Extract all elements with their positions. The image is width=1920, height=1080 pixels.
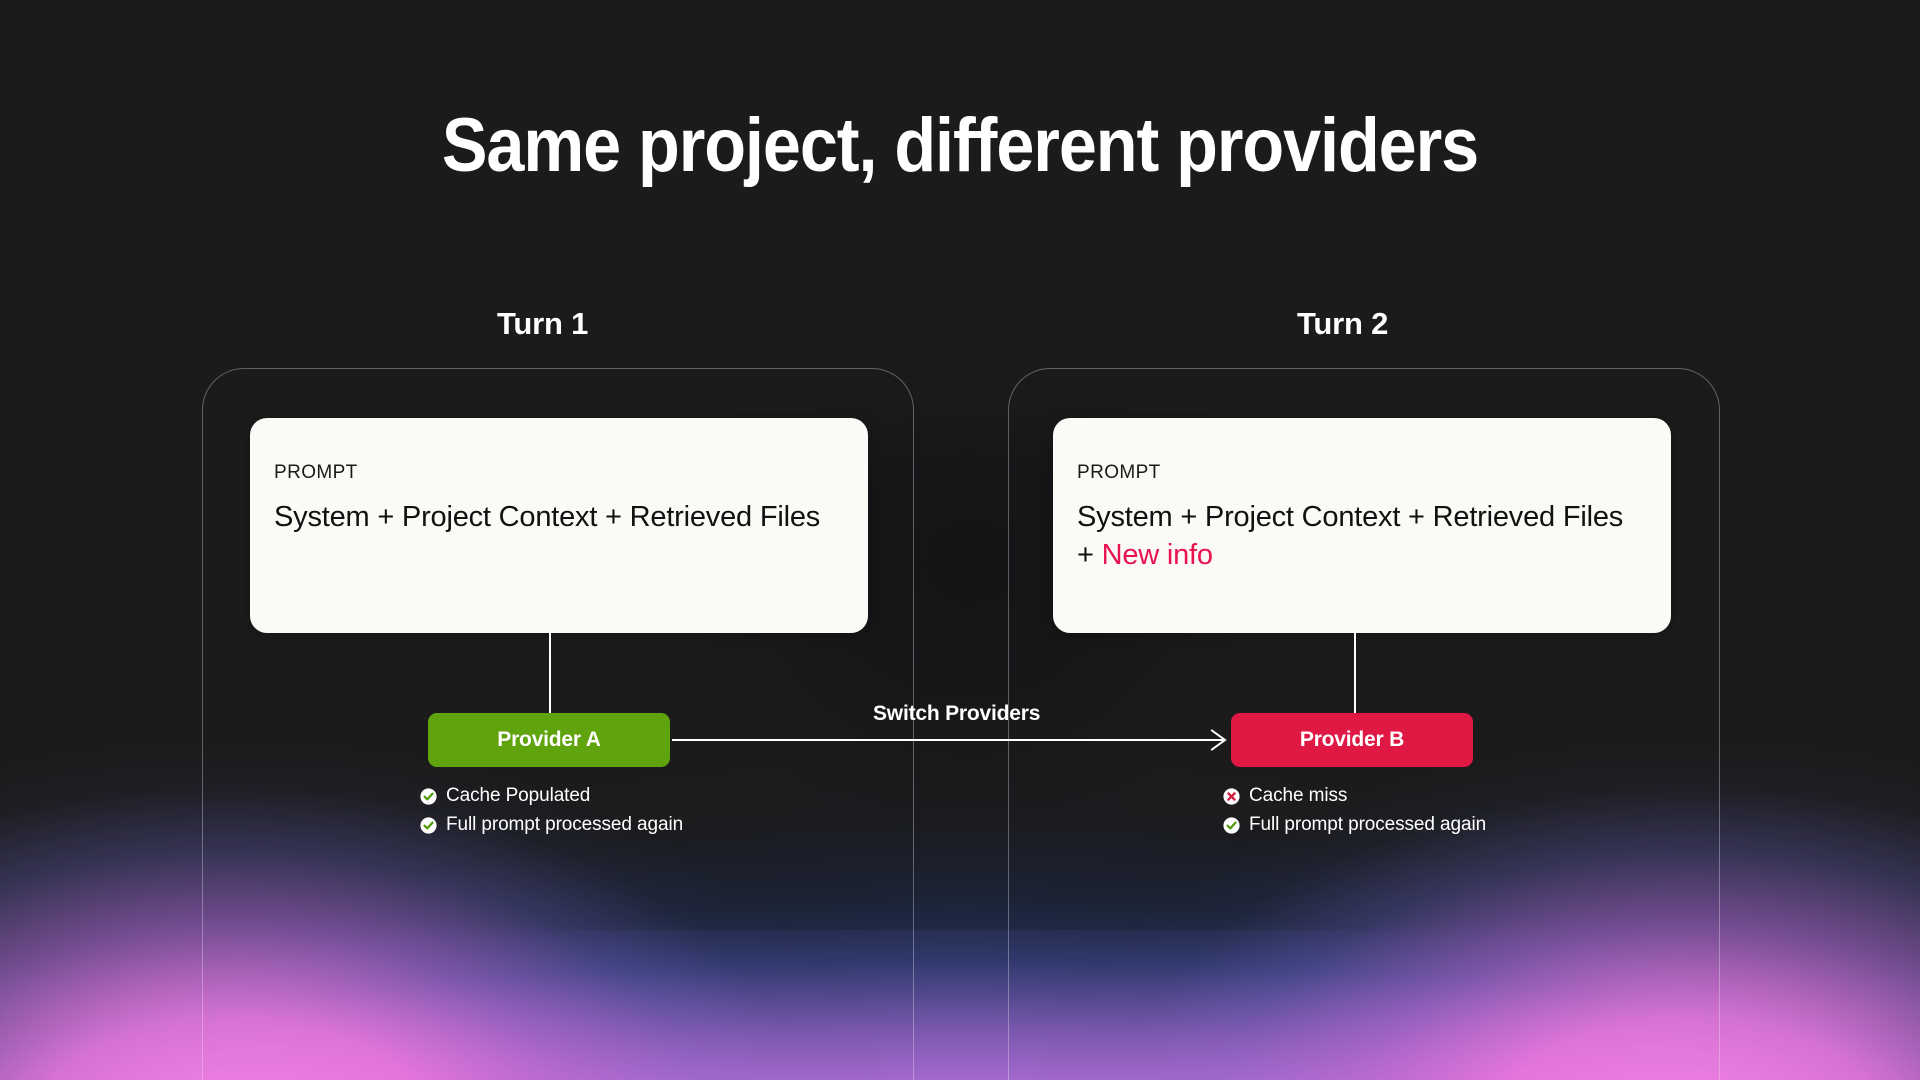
cross-circle-icon (1223, 788, 1240, 805)
prompt-kicker-1: PROMPT (274, 462, 844, 484)
list-item: Cache miss (1223, 785, 1486, 807)
turn-label-2: Turn 2 (1297, 306, 1388, 342)
list-item-label: Full prompt processed again (1249, 814, 1486, 836)
prompt-text-highlight-2: New info (1102, 539, 1213, 571)
list-item: Full prompt processed again (420, 814, 683, 836)
prompt-body-1: System + Project Context + Retrieved Fil… (274, 498, 844, 536)
prompt-text-plain-1: System + Project Context + Retrieved Fil… (274, 501, 820, 533)
switch-providers-arrow (672, 720, 1230, 760)
check-circle-icon (1223, 817, 1240, 834)
page-title: Same project, different providers (96, 108, 1824, 184)
prompt-card-1: PROMPT System + Project Context + Retrie… (250, 418, 868, 633)
outcome-list-2: Cache miss Full prompt processed again (1223, 785, 1486, 836)
provider-b-label: Provider B (1300, 728, 1404, 752)
list-item-label: Cache Populated (446, 785, 590, 807)
prompt-kicker-2: PROMPT (1077, 462, 1647, 484)
list-item-label: Cache miss (1249, 785, 1347, 807)
prompt-card-2: PROMPT System + Project Context + Retrie… (1053, 418, 1671, 633)
check-circle-icon (420, 817, 437, 834)
provider-a-button[interactable]: Provider A (428, 713, 670, 767)
diagram-canvas: Same project, different providers Turn 1… (0, 0, 1920, 1080)
list-item-label: Full prompt processed again (446, 814, 683, 836)
list-item: Full prompt processed again (1223, 814, 1486, 836)
provider-a-label: Provider A (497, 728, 600, 752)
switch-providers-label: Switch Providers (873, 702, 1040, 726)
outcome-list-1: Cache Populated Full prompt processed ag… (420, 785, 683, 836)
provider-b-button[interactable]: Provider B (1231, 713, 1473, 767)
prompt-body-2: System + Project Context + Retrieved Fil… (1077, 498, 1647, 575)
list-item: Cache Populated (420, 785, 683, 807)
turn-label-1: Turn 1 (497, 306, 588, 342)
check-circle-icon (420, 788, 437, 805)
